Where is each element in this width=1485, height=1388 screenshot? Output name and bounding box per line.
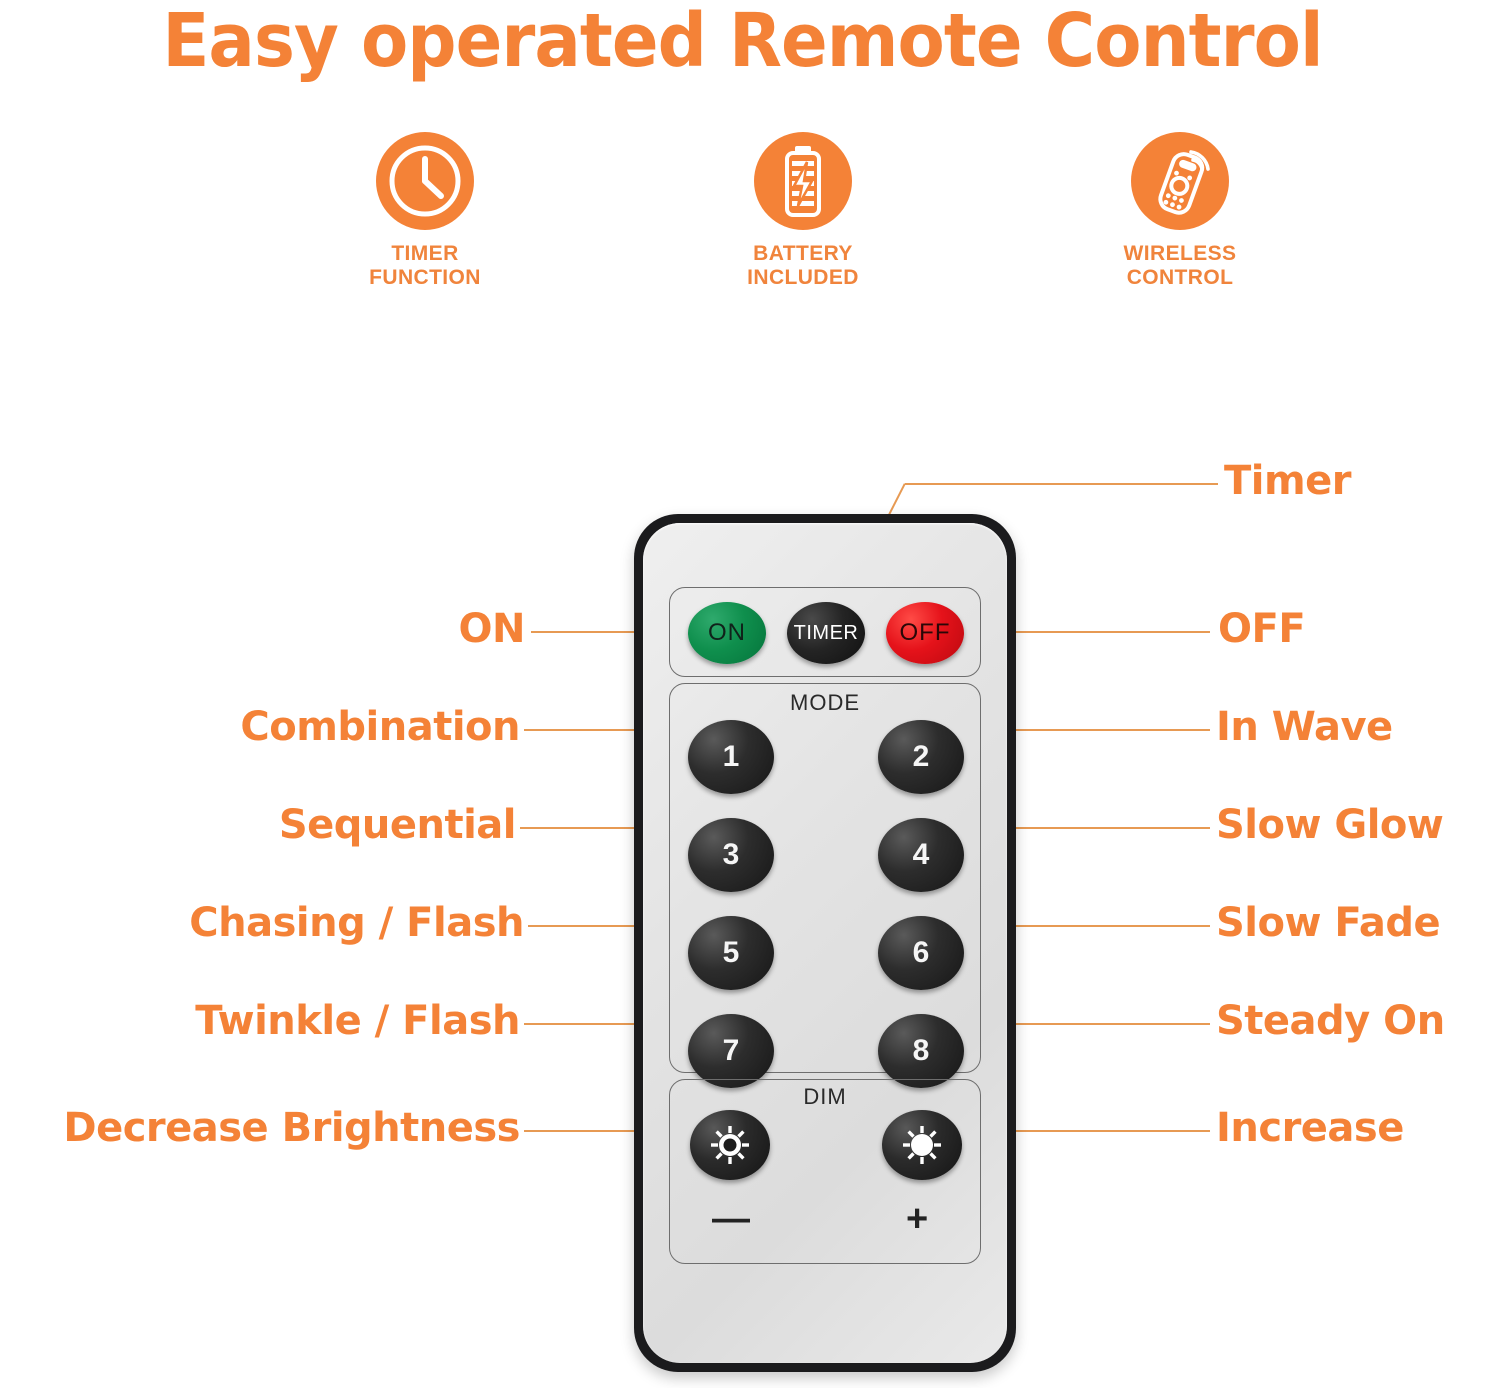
feature-label-line1: BATTERY [678, 242, 928, 266]
mode-button-1[interactable]: 1 [688, 720, 774, 794]
callout-on: ON [180, 606, 525, 652]
mode-button-group: MODE 1 2 3 4 5 6 [669, 683, 981, 1073]
callout-chasing-flash: Chasing / Flash [80, 900, 524, 946]
dim-group-label: DIM [670, 1084, 980, 1110]
feature-label-line2: INCLUDED [678, 266, 928, 290]
remote-on-button[interactable]: ON [688, 602, 766, 664]
page-title: Easy operated Remote Control [52, 0, 1433, 84]
callout-slow-glow: Slow Glow [1216, 802, 1443, 848]
remote-timer-button[interactable]: TIMER [787, 602, 865, 664]
mode-button-3-label: 3 [723, 838, 740, 872]
remote-signal-icon [1131, 132, 1229, 230]
mode-group-label: MODE [670, 690, 980, 716]
feature-label-line1: TIMER [300, 242, 550, 266]
feature-label: BATTERY INCLUDED [678, 242, 928, 290]
mode-button-5-label: 5 [723, 936, 740, 970]
clock-icon [376, 132, 474, 230]
mode-button-2-label: 2 [913, 740, 930, 774]
feature-wireless-control: WIRELESS CONTROL [1055, 132, 1305, 290]
feature-badges: TIMER FUNCTION BATTERY INCLUDED [300, 132, 1370, 322]
feature-timer-function: TIMER FUNCTION [300, 132, 550, 290]
callout-combination: Combination [120, 704, 520, 750]
mode-button-7-label: 7 [723, 1034, 740, 1068]
infographic-stage: Easy operated Remote Control TIMER FUNCT… [0, 0, 1485, 1388]
battery-icon [754, 132, 852, 230]
callout-increase: Increase [1216, 1105, 1404, 1151]
mode-button-6[interactable]: 6 [878, 916, 964, 990]
timer-button-label: TIMER [794, 622, 859, 645]
callout-steady-on: Steady On [1216, 998, 1445, 1044]
dim-increase-button[interactable] [882, 1110, 962, 1180]
feature-label-line2: CONTROL [1055, 266, 1305, 290]
sun-bright-icon [896, 1119, 948, 1171]
remote-off-button[interactable]: OFF [886, 602, 964, 664]
feature-label: WIRELESS CONTROL [1055, 242, 1305, 290]
mode-button-5[interactable]: 5 [688, 916, 774, 990]
dim-minus-symbol: — [712, 1200, 750, 1238]
remote-control-device: ON TIMER OFF MODE 1 2 3 [634, 514, 1016, 1372]
remote-face: ON TIMER OFF MODE 1 2 3 [643, 523, 1007, 1363]
leader-line-timer-horizontal [905, 483, 1218, 485]
callout-sequential: Sequential [120, 802, 516, 848]
dim-plus-symbol: + [906, 1200, 928, 1238]
mode-button-4-label: 4 [913, 838, 930, 872]
mode-button-8-label: 8 [913, 1034, 930, 1068]
off-button-label: OFF [900, 619, 951, 647]
feature-label: TIMER FUNCTION [300, 242, 550, 290]
mode-button-3[interactable]: 3 [688, 818, 774, 892]
callout-slow-fade: Slow Fade [1216, 900, 1440, 946]
feature-label-line1: WIRELESS [1055, 242, 1305, 266]
mode-button-4[interactable]: 4 [878, 818, 964, 892]
callout-in-wave: In Wave [1216, 704, 1393, 750]
mode-button-2[interactable]: 2 [878, 720, 964, 794]
on-button-label: ON [708, 619, 746, 647]
mode-button-8[interactable]: 8 [878, 1014, 964, 1088]
mode-button-1-label: 1 [723, 740, 740, 774]
callout-twinkle-flash: Twinkle / Flash [80, 998, 520, 1044]
dim-decrease-button[interactable] [690, 1110, 770, 1180]
callout-timer: Timer [1224, 458, 1351, 504]
callout-off: OFF [1218, 606, 1305, 652]
feature-label-line2: FUNCTION [300, 266, 550, 290]
dim-button-group: DIM [669, 1079, 981, 1264]
power-button-group: ON TIMER OFF [669, 587, 981, 677]
feature-battery-included: BATTERY INCLUDED [678, 132, 928, 290]
mode-button-6-label: 6 [913, 936, 930, 970]
sun-dim-icon [704, 1119, 756, 1171]
callout-decrease-brightness: Decrease Brightness [10, 1105, 520, 1151]
mode-button-7[interactable]: 7 [688, 1014, 774, 1088]
